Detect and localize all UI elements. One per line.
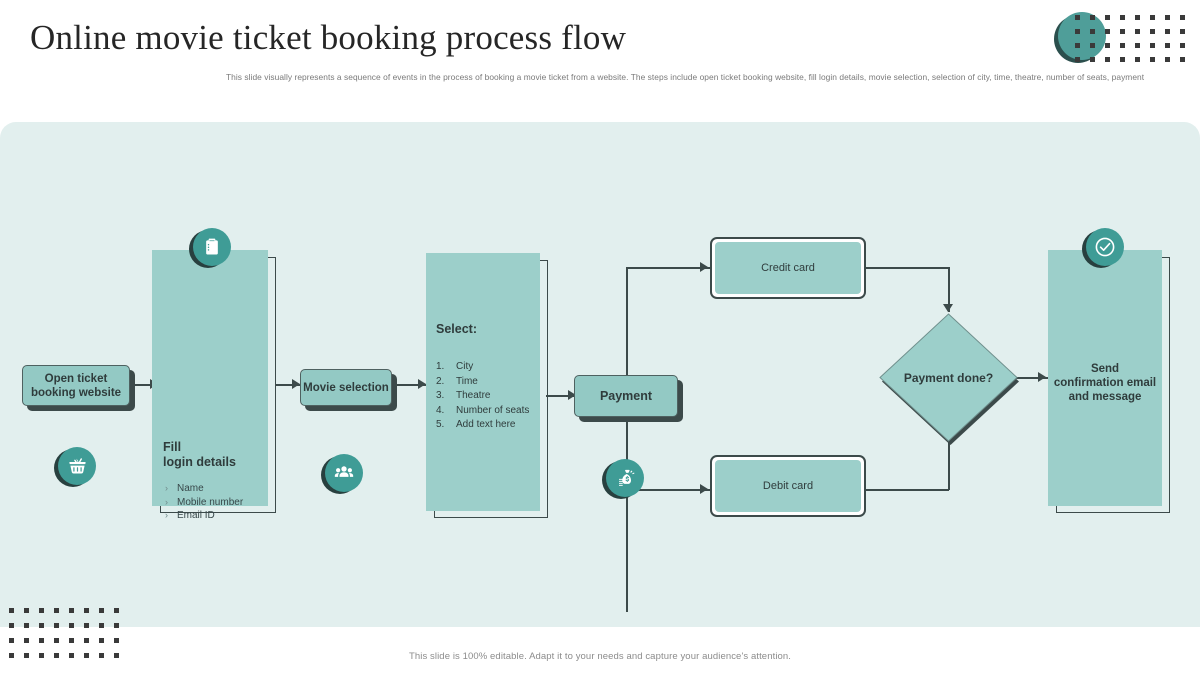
select-item-label: Time	[456, 375, 478, 390]
arrowhead-payment-to-debit	[700, 484, 708, 494]
select-item-label: City	[456, 360, 473, 375]
open-ticket-booking-website-box[interactable]: Open ticket booking website	[22, 365, 130, 406]
decorative-dots-topright	[1054, 8, 1194, 66]
slide-footer: This slide is 100% editable. Adapt it to…	[0, 627, 1200, 675]
chevron-right-icon: ›	[165, 482, 168, 496]
list-item: › Name	[165, 482, 273, 496]
login-item-label: Name	[177, 482, 204, 496]
select-item-label: Add text here	[456, 418, 515, 433]
arrowhead-login-to-movie	[292, 379, 300, 389]
connector-debit-to-decision-h	[866, 489, 949, 491]
chevron-right-icon: ›	[165, 496, 168, 510]
select-item-label: Theatre	[456, 389, 490, 404]
chevron-right-icon: ›	[165, 509, 168, 523]
select-item-number: 4.	[436, 404, 448, 419]
credit-card-box[interactable]: Credit card	[715, 242, 861, 294]
list-item: 4. Number of seats	[436, 404, 540, 419]
page-subtitle: This slide visually represents a sequenc…	[226, 72, 1171, 84]
decision-label: Payment done?	[876, 371, 1021, 385]
check-circle-icon	[1086, 228, 1124, 266]
clipboard-form-icon	[193, 228, 231, 266]
login-item-label: Mobile number	[177, 496, 243, 510]
select-item-number: 5.	[436, 418, 448, 433]
login-heading-line2: login details	[163, 455, 273, 470]
credit-card-label: Credit card	[761, 262, 815, 274]
movie-selection-label: Movie selection	[303, 381, 389, 395]
list-item: › Email ID	[165, 509, 273, 523]
payment-label: Payment	[600, 389, 652, 403]
arrowhead-payment-to-credit	[700, 262, 708, 272]
login-panel-heading: Fill login details	[163, 440, 273, 470]
login-details-list: › Name › Mobile number › Email ID	[165, 482, 273, 523]
slide-header: Online movie ticket booking process flow…	[0, 0, 1200, 122]
send-label-line2: confirmation email	[1048, 376, 1162, 390]
node-payment-done-decision[interactable]: Payment done?	[876, 310, 1021, 445]
payment-box[interactable]: Payment	[574, 375, 678, 417]
people-group-icon	[325, 454, 363, 492]
dot-grid-topright	[1072, 12, 1192, 68]
debit-card-label: Debit card	[763, 480, 813, 492]
arrowhead-movie-to-select	[418, 379, 426, 389]
select-item-label: Number of seats	[456, 404, 529, 419]
list-item: 5. Add text here	[436, 418, 540, 433]
open-ticket-label-line1: Open ticket	[45, 372, 108, 386]
send-label-line1: Send	[1048, 362, 1162, 376]
select-panel-heading: Select:	[436, 322, 536, 337]
open-ticket-label-line2: booking website	[31, 386, 121, 400]
select-item-number: 3.	[436, 389, 448, 404]
send-label-line3: and message	[1048, 390, 1162, 404]
list-item: 3. Theatre	[436, 389, 540, 404]
select-item-number: 1.	[436, 360, 448, 375]
login-item-label: Email ID	[177, 509, 215, 523]
diagram-canvas: Open ticket booking website Fill login d…	[0, 122, 1200, 627]
list-item: 1. City	[436, 360, 540, 375]
list-item: 2. Time	[436, 375, 540, 390]
connector-payment-trunk	[626, 267, 628, 612]
login-heading-line1: Fill	[163, 440, 273, 455]
money-bag-icon	[606, 459, 644, 497]
debit-card-box[interactable]: Debit card	[715, 460, 861, 512]
movie-selection-box[interactable]: Movie selection	[300, 369, 392, 406]
footer-note: This slide is 100% editable. Adapt it to…	[0, 651, 1200, 662]
connector-payment-to-credit	[626, 267, 710, 269]
arrowhead-decision-to-send	[1038, 372, 1046, 382]
page-title: Online movie ticket booking process flow	[30, 18, 626, 58]
select-item-number: 2.	[436, 375, 448, 390]
list-item: › Mobile number	[165, 496, 273, 510]
send-confirmation-label: Send confirmation email and message	[1048, 362, 1162, 404]
connector-credit-to-decision-h	[866, 267, 949, 269]
shopping-basket-icon	[58, 447, 96, 485]
select-options-list: 1. City 2. Time 3. Theatre 4. Number of …	[436, 360, 540, 433]
